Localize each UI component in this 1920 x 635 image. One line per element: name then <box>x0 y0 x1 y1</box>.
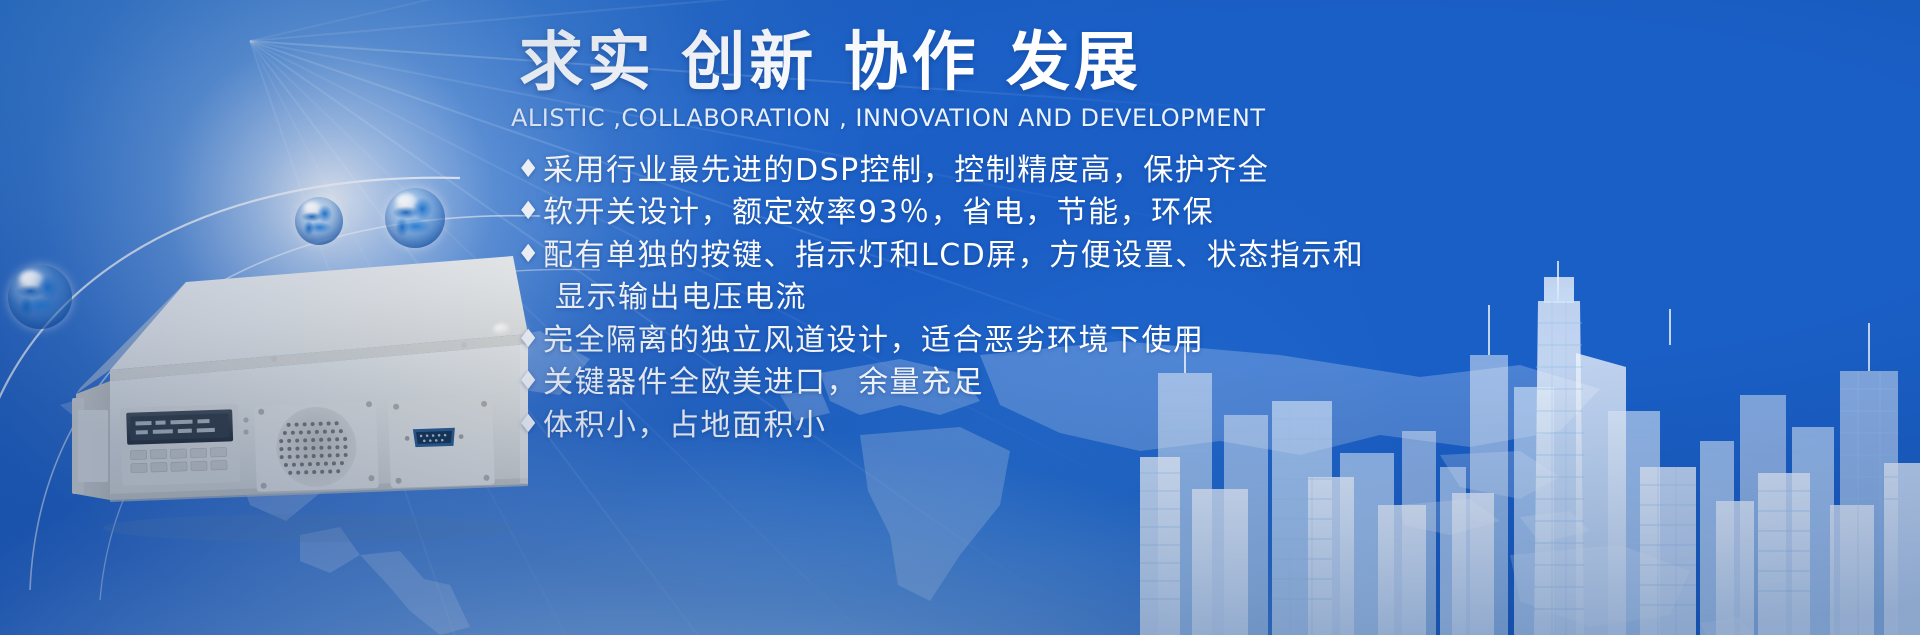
background-vignette <box>0 0 1920 635</box>
promo-banner: 求实 创新 协作 发展 ALISTIC ,COLLABORATION , INN… <box>0 0 1920 635</box>
